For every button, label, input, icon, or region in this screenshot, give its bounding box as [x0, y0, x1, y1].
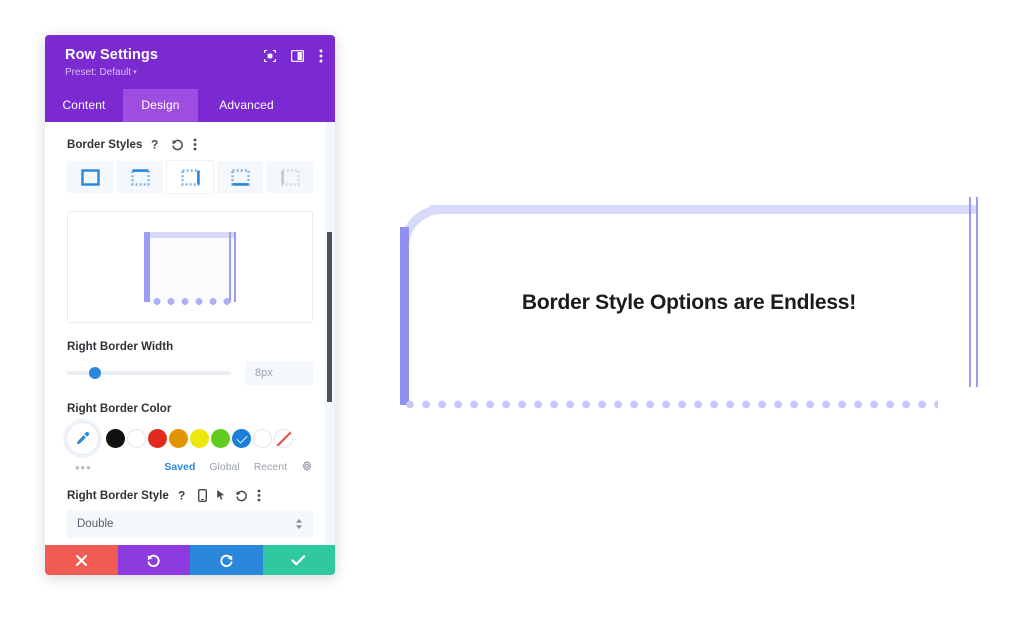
preview-fill: [144, 232, 236, 302]
color-tab-saved[interactable]: Saved: [164, 461, 195, 473]
swatch-orange[interactable]: [169, 429, 188, 448]
cancel-button[interactable]: [45, 545, 118, 575]
tab-content[interactable]: Content: [45, 89, 123, 122]
border-preview-box: [67, 211, 313, 323]
preview-right-border-outer: [234, 232, 236, 302]
header-icon-group: [264, 49, 323, 63]
help-icon[interactable]: ?: [178, 489, 189, 502]
right-border-style-label: Right Border Style: [67, 490, 169, 502]
chevron-updown-icon: [295, 518, 303, 531]
color-tab-global[interactable]: Global: [209, 461, 239, 473]
row-settings-panel: Row Settings Preset: Default▾: [45, 35, 335, 575]
right-border-width-label: Right Border Width: [67, 341, 173, 353]
color-panel-footer: ••• Saved Global Recent: [67, 459, 313, 475]
svg-text:?: ?: [151, 138, 158, 151]
border-demo-row: Border Style Options are Endless!: [400, 205, 978, 405]
swatch-transparent[interactable]: [274, 429, 293, 448]
tab-design[interactable]: Design: [123, 89, 198, 122]
more-vertical-icon[interactable]: [257, 489, 261, 502]
swatch-red[interactable]: [148, 429, 167, 448]
color-swatch-row: [67, 423, 313, 454]
swatch-yellow[interactable]: [190, 429, 209, 448]
panel-tabs: Content Design Advanced: [45, 89, 335, 122]
border-styles-label: Border Styles: [67, 139, 142, 151]
color-tab-recent[interactable]: Recent: [254, 461, 287, 473]
preset-label: Preset: Default: [65, 67, 131, 78]
redo-button[interactable]: [190, 545, 263, 575]
border-left-icon[interactable]: [267, 161, 313, 193]
more-colors-icon[interactable]: •••: [75, 460, 92, 475]
preview-left-border: [144, 232, 150, 302]
preset-selector[interactable]: Preset: Default▾: [65, 67, 319, 79]
panel-header: Row Settings Preset: Default▾: [45, 35, 335, 89]
width-label-row: Right Border Width: [67, 341, 313, 353]
right-border-style-value: Double: [77, 518, 113, 530]
more-vertical-icon[interactable]: [193, 138, 197, 151]
width-slider[interactable]: [67, 371, 231, 375]
focus-icon[interactable]: [264, 50, 276, 62]
width-slider-handle[interactable]: [89, 367, 101, 379]
swatch-white[interactable]: [127, 429, 146, 448]
save-button[interactable]: [263, 545, 336, 575]
undo-button[interactable]: [118, 545, 191, 575]
preview-bottom-border: [150, 298, 234, 305]
preview-top-border: [144, 232, 236, 238]
panel-body: Border Styles ?: [45, 122, 335, 545]
style-label-row: Right Border Style ?: [67, 489, 313, 502]
gear-icon[interactable]: [301, 461, 313, 473]
demo-heading: Border Style Options are Endless!: [522, 291, 856, 315]
right-border-width-control: 8px: [67, 361, 313, 385]
scrollbar-track[interactable]: [325, 122, 335, 545]
border-styles-label-row: Border Styles ?: [67, 138, 313, 151]
color-source-tabs: Saved Global Recent: [164, 461, 313, 473]
chevron-down-icon: ▾: [133, 69, 137, 76]
border-right-icon[interactable]: [167, 161, 213, 193]
swatch-black[interactable]: [106, 429, 125, 448]
screen: Row Settings Preset: Default▾: [0, 0, 1024, 618]
right-border-style-select[interactable]: Double: [67, 510, 313, 538]
border-preview-frame: [144, 232, 236, 302]
eyedropper-icon[interactable]: [67, 423, 98, 454]
reset-icon[interactable]: [171, 138, 184, 151]
preview-right-border-inner: [229, 232, 231, 302]
width-value-input[interactable]: 8px: [245, 361, 313, 385]
border-top-icon[interactable]: [117, 161, 163, 193]
help-icon[interactable]: ?: [151, 138, 162, 151]
hover-cursor-icon[interactable]: [216, 489, 226, 502]
tab-advanced[interactable]: Advanced: [198, 89, 295, 122]
right-border-color-label: Right Border Color: [67, 403, 171, 415]
swatch-blue[interactable]: [232, 429, 251, 448]
scrollbar-thumb[interactable]: [327, 232, 332, 402]
border-all-icon[interactable]: [67, 161, 113, 193]
border-bottom-icon[interactable]: [217, 161, 263, 193]
swatch-empty[interactable]: [253, 429, 272, 448]
swatch-green[interactable]: [211, 429, 230, 448]
color-label-row: Right Border Color: [67, 403, 313, 415]
demo-content: Border Style Options are Endless!: [400, 205, 978, 405]
panel-footer: [45, 545, 335, 575]
responsive-icon[interactable]: [198, 489, 207, 502]
more-vertical-icon[interactable]: [319, 49, 323, 63]
reset-icon[interactable]: [235, 489, 248, 502]
layout-panel-icon[interactable]: [291, 50, 304, 62]
svg-text:?: ?: [178, 489, 185, 502]
border-side-selector: [67, 161, 313, 193]
